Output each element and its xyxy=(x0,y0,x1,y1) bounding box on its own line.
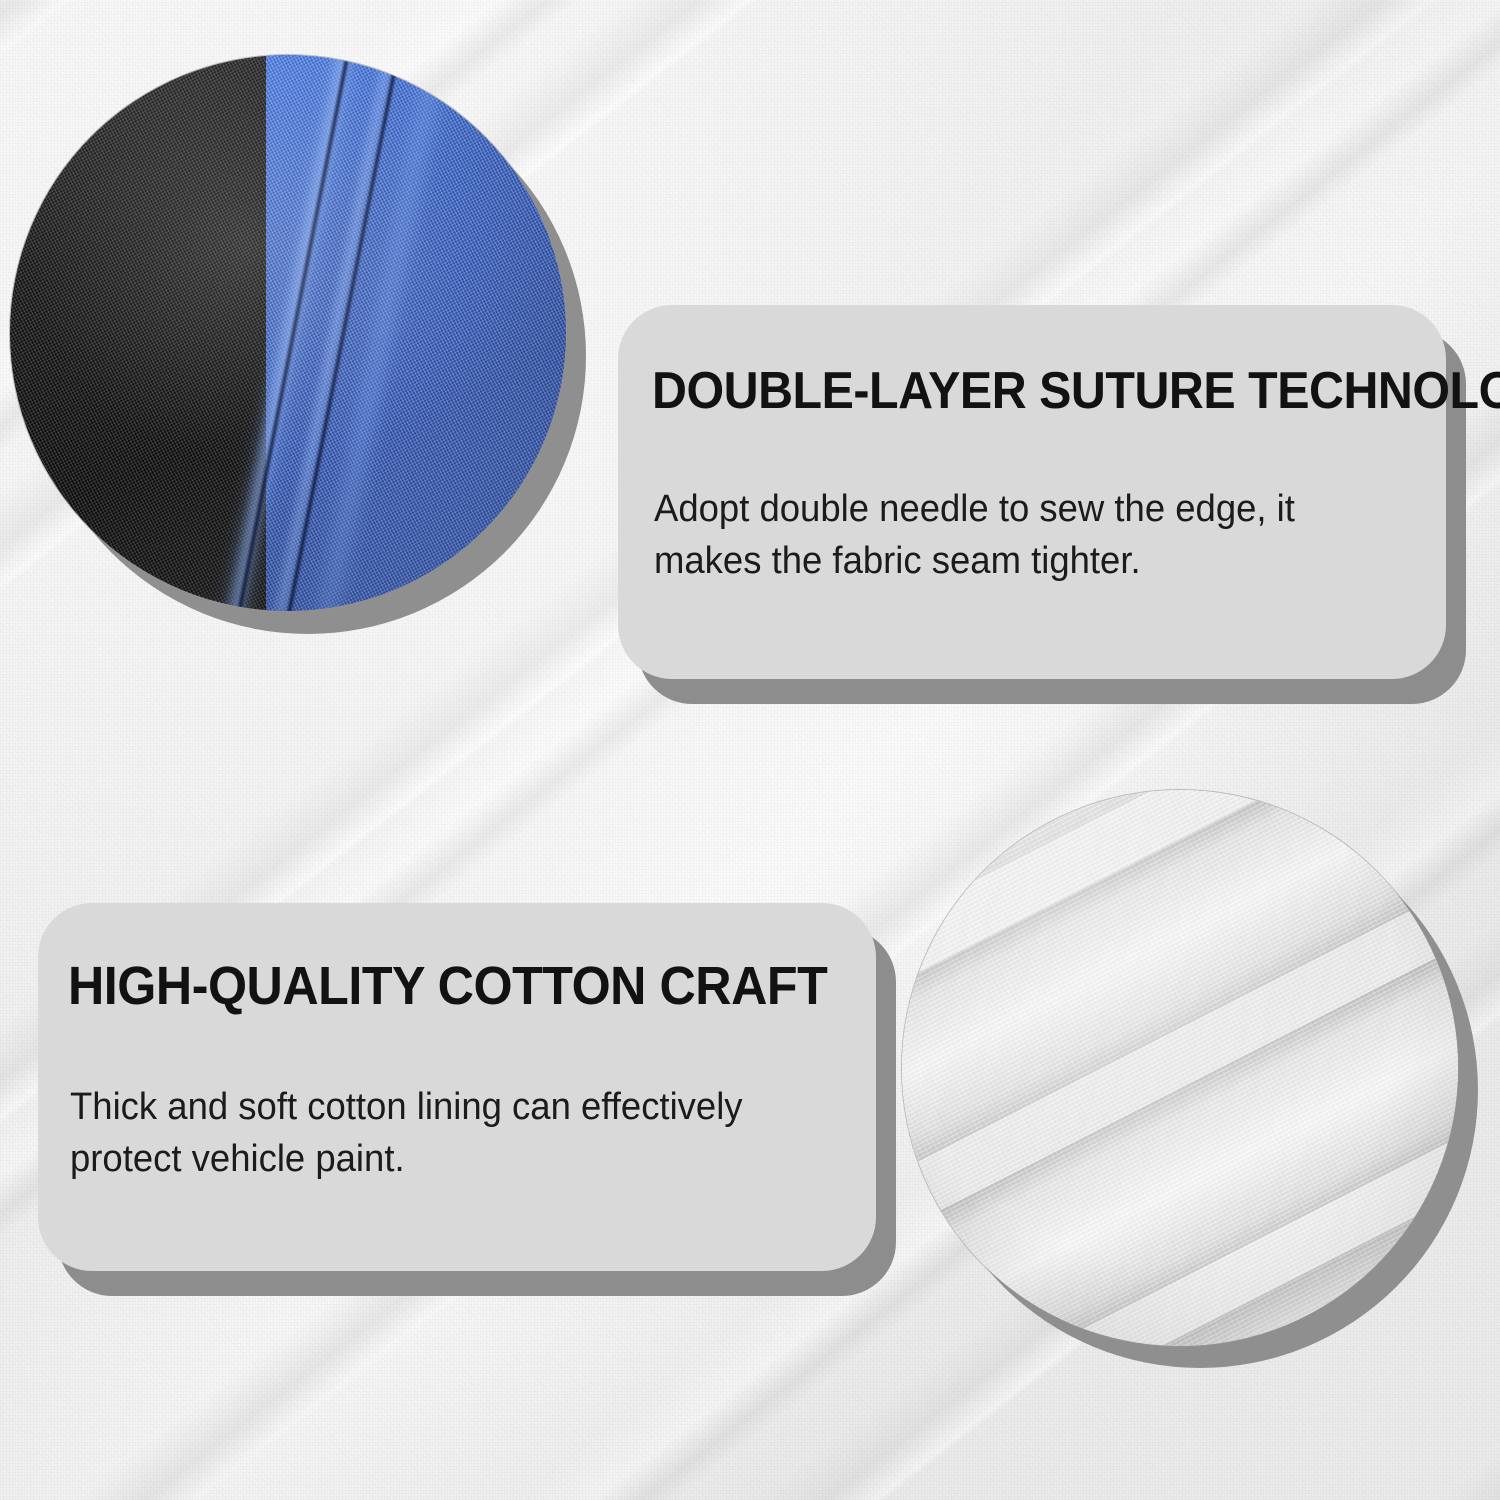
feature-2-description: Thick and soft cotton lining can effecti… xyxy=(70,1081,848,1186)
feature-card-2-content: HIGH-QUALITY COTTON CRAFT Thick and soft… xyxy=(38,903,876,1271)
feature-1-heading: DOUBLE-LAYER SUTURE TECHNOLOGY xyxy=(652,361,1500,421)
feature-2-photo-vignette xyxy=(902,790,1458,1346)
feature-card-1-content: DOUBLE-LAYER SUTURE TECHNOLOGY Adopt dou… xyxy=(618,305,1446,679)
feature-2-photo-cotton-lining xyxy=(902,790,1458,1346)
feature-card-1: DOUBLE-LAYER SUTURE TECHNOLOGY Adopt dou… xyxy=(618,305,1446,679)
feature-1-photo-vignette xyxy=(10,55,566,611)
feature-1-photo-stitched-fabric xyxy=(10,55,566,611)
feature-2-heading: HIGH-QUALITY COTTON CRAFT xyxy=(68,955,827,1017)
infographic-canvas: DOUBLE-LAYER SUTURE TECHNOLOGY Adopt dou… xyxy=(0,0,1500,1500)
feature-card-2: HIGH-QUALITY COTTON CRAFT Thick and soft… xyxy=(38,903,876,1271)
feature-1-description: Adopt double needle to sew the edge, it … xyxy=(654,483,1412,588)
